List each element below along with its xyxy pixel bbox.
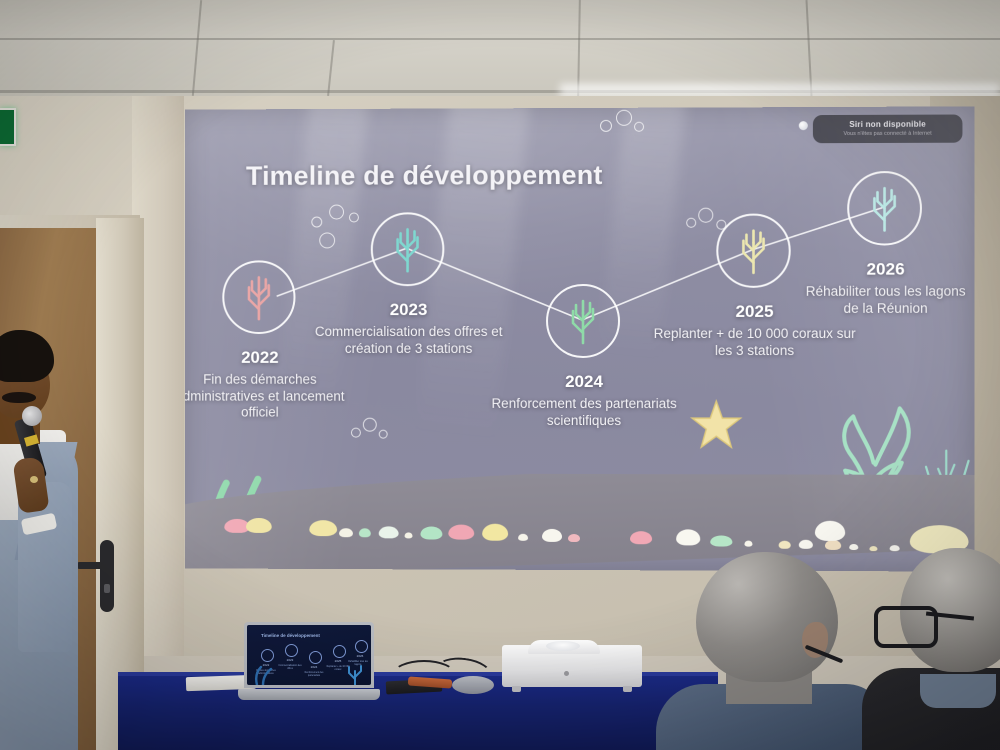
laptop-base (238, 689, 380, 700)
emergency-exit-sign-icon (0, 108, 16, 146)
laptop-mini-desc: Renforcement des partenariats (301, 672, 327, 678)
presenter-hair (0, 330, 54, 382)
coral-icon (862, 184, 906, 232)
coral-icon (237, 273, 280, 321)
timeline-description: Réhabiliter tous les lagons de la Réunio… (802, 284, 970, 317)
laptop-seaweed-icon (249, 663, 275, 685)
coral-icon (561, 297, 605, 345)
cable-puck (452, 676, 494, 694)
laptop[interactable]: Timeline de développement 2022 2023 2024… (238, 622, 380, 700)
timeline-description: Renforcement des partenariats scientifiq… (481, 396, 687, 429)
laptop-mini-year: 2026 (349, 654, 371, 658)
projection-screen: Siri non disponible Vous n'êtes pas conn… (185, 106, 975, 571)
starfish-icon (690, 398, 742, 450)
timeline-description: Commercialisation des offres et création… (314, 324, 503, 357)
photo-scene: Siri non disponible Vous n'êtes pas conn… (0, 0, 1000, 750)
timeline-year: 2023 (314, 300, 503, 320)
audience-right-collar (920, 674, 996, 708)
timeline-description: Replanter + de 10 000 coraux sur les 3 s… (648, 326, 861, 359)
presenter-mustache (2, 392, 36, 403)
projector-lens (546, 641, 580, 651)
audience-front-head (696, 552, 838, 682)
coral-icon (386, 225, 430, 273)
laptop-mini-desc: Commercialisation des offres (277, 665, 303, 671)
timeline-year: 2024 (489, 372, 679, 392)
laptop-screen: Timeline de développement 2022 2023 2024… (247, 625, 371, 685)
laptop-mini-year: 2024 (303, 665, 325, 669)
audience-member-front (686, 552, 886, 750)
timeline-year: 2026 (802, 259, 970, 279)
laptop-mini-year: 2023 (279, 658, 301, 662)
laptop-slide-title: Timeline de développement (261, 633, 320, 638)
presenter (0, 330, 136, 750)
laptop-coral-icon (343, 663, 367, 685)
laptop-lid: Timeline de développement 2022 2023 2024… (244, 622, 374, 688)
timeline-description: Fin des démarches administratives et lan… (185, 372, 354, 421)
audience-member-right (886, 548, 1000, 750)
presenter-ring (30, 476, 38, 483)
coral-icon (731, 227, 775, 275)
